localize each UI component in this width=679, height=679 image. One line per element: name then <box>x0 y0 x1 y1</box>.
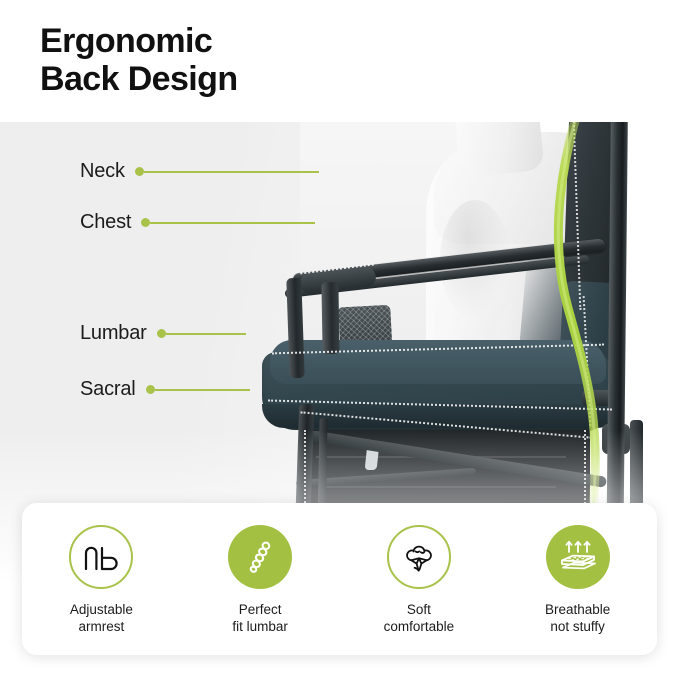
feature-caption: Soft comfortable <box>384 601 455 635</box>
callout-label: Lumbar <box>80 322 147 345</box>
page-title: Ergonomic Back Design <box>40 22 237 98</box>
callout-leader-line <box>150 222 315 224</box>
callout-lumbar: Lumbar <box>80 322 246 345</box>
feature-breathable-not-stuffy[interactable]: Breathable not stuffy <box>503 525 653 635</box>
green-dot-icon <box>135 167 144 176</box>
feature-caption: Breathable not stuffy <box>545 601 610 635</box>
feature-perfect-fit-lumbar[interactable]: Perfect fit lumbar <box>185 525 335 635</box>
callout-leader-line <box>155 389 250 391</box>
callout-label: Chest <box>80 211 131 234</box>
cotton-flower-icon <box>387 525 451 589</box>
callout-sacral: Sacral <box>80 378 250 401</box>
callout-leader-line <box>144 171 319 173</box>
feature-caption: Adjustable armrest <box>70 601 133 635</box>
feature-soft-comfortable[interactable]: Soft comfortable <box>344 525 494 635</box>
green-dot-icon <box>146 385 155 394</box>
green-dot-icon <box>141 218 150 227</box>
feature-adjustable-armrest[interactable]: Adjustable armrest <box>26 525 176 635</box>
callout-neck: Neck <box>80 160 319 183</box>
callout-chest: Chest <box>80 211 315 234</box>
callout-label: Sacral <box>80 378 136 401</box>
feature-caption: Perfect fit lumbar <box>232 601 288 635</box>
feature-highlights-card: Adjustable armrest Perfect fit lumbar <box>22 503 657 655</box>
infographic-page: Ergonomic Back Design Neck Chest Lumbar … <box>0 0 679 679</box>
callout-label: Neck <box>80 160 125 183</box>
callout-leader-line <box>166 333 246 335</box>
spine-icon <box>228 525 292 589</box>
armrest-icon <box>69 525 133 589</box>
breathable-fabric-icon <box>546 525 610 589</box>
green-dot-icon <box>157 329 166 338</box>
